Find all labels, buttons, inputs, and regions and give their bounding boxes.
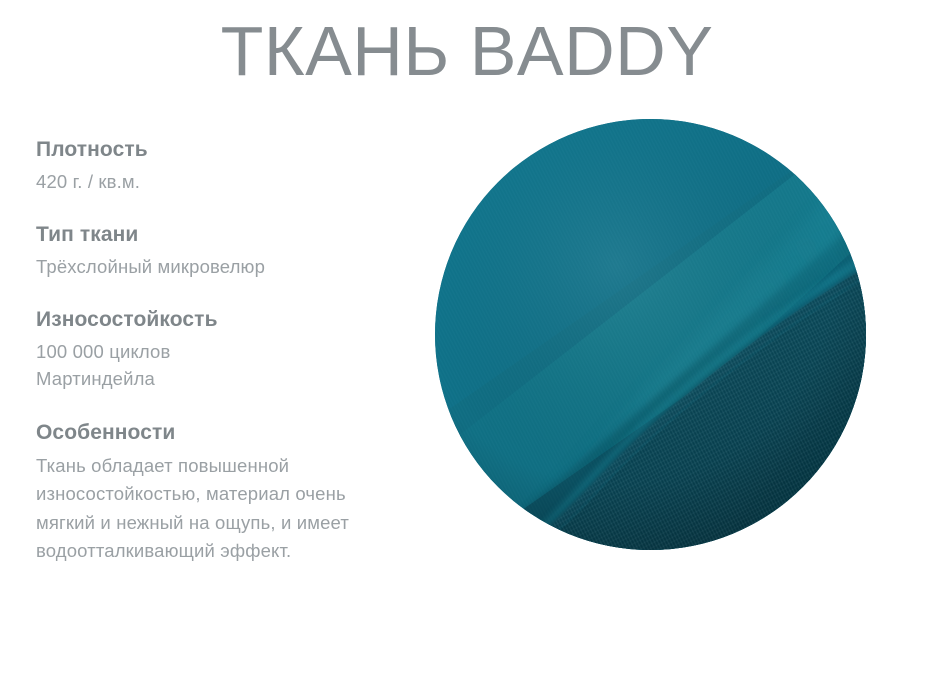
spec-heading-density: Плотность (36, 136, 406, 164)
spec-value-fabric-type: Трёхслойный микровелюр (36, 253, 406, 280)
fabric-spec-slide: ТКАНЬ BADDY Плотность 420 г. / кв.м. Тип… (0, 0, 934, 700)
spec-value-features: Ткань обладает повышенной износостойкост… (36, 452, 386, 564)
page-title: ТКАНЬ BADDY (0, 14, 934, 90)
fabric-swatch-photo (435, 119, 866, 550)
spec-value-density: 420 г. / кв.м. (36, 168, 406, 195)
spec-heading-durability: Износостойкость (36, 306, 406, 334)
fabric-illustration (435, 119, 866, 550)
spec-heading-fabric-type: Тип ткани (36, 221, 406, 249)
spec-heading-features: Особенности (36, 419, 406, 447)
spec-value-durability: 100 000 циклов Мартиндейла (36, 338, 406, 393)
spec-item-density: Плотность 420 г. / кв.м. (36, 136, 406, 195)
specs-list: Плотность 420 г. / кв.м. Тип ткани Трёхс… (36, 136, 406, 565)
spec-item-features: Особенности Ткань обладает повышенной из… (36, 419, 406, 565)
spec-item-fabric-type: Тип ткани Трёхслойный микровелюр (36, 221, 406, 280)
spec-item-durability: Износостойкость 100 000 циклов Мартиндей… (36, 306, 406, 392)
